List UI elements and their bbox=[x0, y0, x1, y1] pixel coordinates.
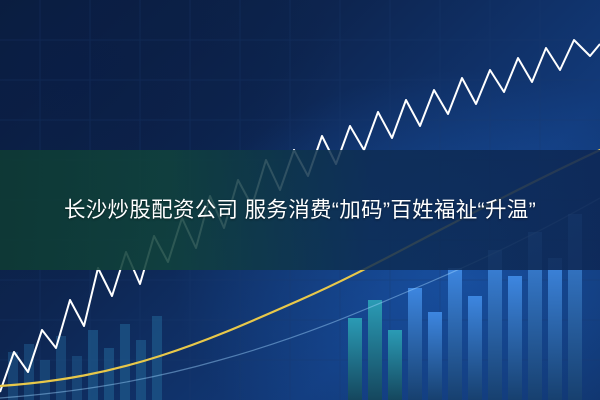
volume-bars-left bbox=[8, 316, 162, 400]
headline-text: 长沙炒股配资公司 服务消费“加码”百姓福祉“升温” bbox=[0, 150, 600, 270]
news-cover-image: 长沙炒股配资公司 服务消费“加码”百姓福祉“升温” bbox=[0, 0, 600, 400]
